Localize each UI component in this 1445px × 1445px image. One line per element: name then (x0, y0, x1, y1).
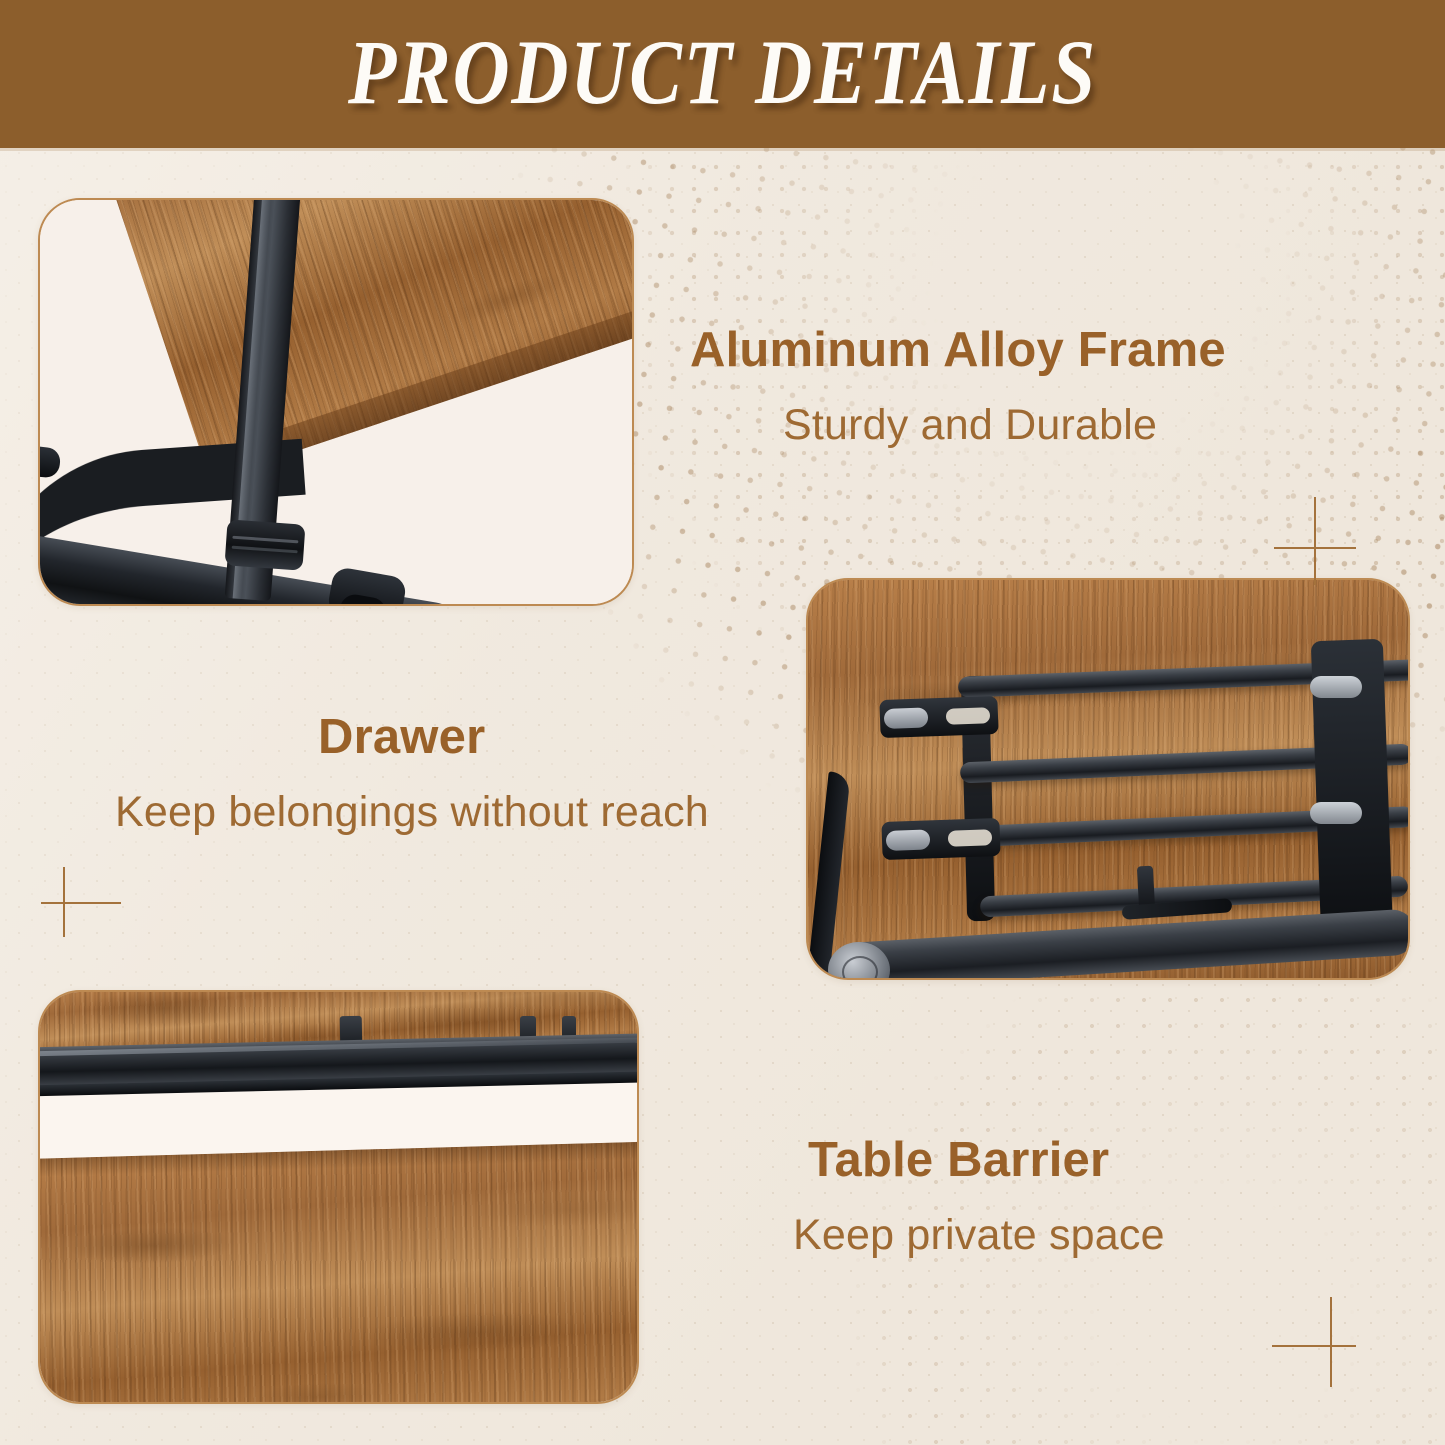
feature-text-drawer: Drawer Keep belongings without reach (318, 712, 709, 837)
feature-text-table-barrier: Table Barrier Keep private space (808, 1135, 1165, 1260)
feature-text-aluminum-alloy-frame: Aluminum Alloy Frame Sturdy and Durable (690, 325, 1226, 450)
tabletop-surface (40, 1140, 637, 1402)
collar-ring-2 (232, 546, 298, 554)
cross-vertical (63, 867, 65, 937)
right-pin-upper (1310, 676, 1362, 698)
feature-heading: Aluminum Alloy Frame (690, 325, 1226, 376)
decorative-cross-icon (1272, 1297, 1356, 1387)
feature-heading: Drawer (318, 712, 709, 763)
product-details-infographic: PRODUCT DETAILS (0, 0, 1445, 1445)
photo-card-aluminum-alloy-frame (38, 198, 634, 606)
cross-vertical (1314, 497, 1316, 585)
wood-grain-knots (40, 1140, 637, 1402)
right-pin-lower (1310, 802, 1362, 824)
photo-table-leg-base (40, 200, 632, 604)
bracket-slot (946, 707, 991, 725)
photo-card-table-barrier (38, 990, 639, 1404)
banner-underline (0, 148, 1445, 151)
feature-subheading: Keep private space (793, 1212, 1165, 1259)
feature-subheading: Sturdy and Durable (783, 402, 1226, 449)
leg-collar-joint (224, 519, 305, 570)
feature-subheading: Keep belongings without reach (115, 789, 709, 836)
cross-horizontal (1272, 1345, 1356, 1347)
bracket-pin (886, 829, 931, 851)
photo-drawer-rails (808, 580, 1408, 978)
bracket-pin (884, 707, 929, 729)
cross-horizontal (41, 902, 121, 904)
photo-table-barrier (40, 992, 637, 1402)
cross-vertical (1330, 1297, 1332, 1387)
rail-tee-bracket-lower (881, 818, 1000, 860)
collar-ring-1 (232, 536, 298, 544)
page-title: PRODUCT DETAILS (348, 26, 1097, 118)
photo-card-drawer (806, 578, 1410, 980)
bracket-slot (948, 829, 993, 847)
header-banner: PRODUCT DETAILS (0, 0, 1445, 148)
knob-inner-ring (842, 956, 878, 978)
decorative-cross-icon (41, 867, 121, 937)
feature-heading: Table Barrier (808, 1135, 1165, 1186)
decorative-cross-icon (1274, 497, 1356, 585)
rail-tee-bracket-upper (879, 696, 998, 738)
